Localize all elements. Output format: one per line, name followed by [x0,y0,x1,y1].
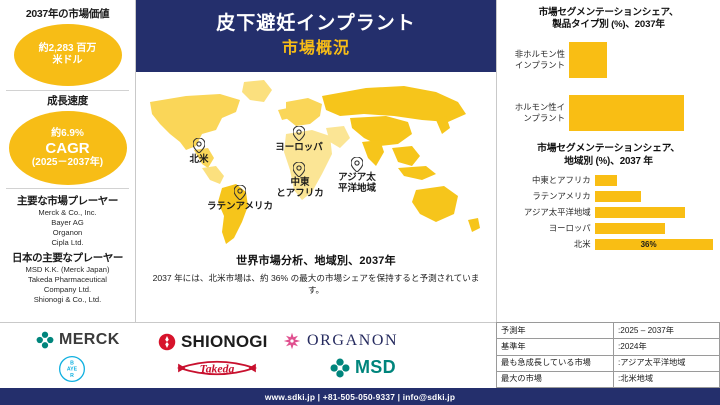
growth-rate-metric: CAGR [45,140,89,157]
table-cell-key: 予測年 [497,323,614,339]
msd-clover-icon [330,358,350,378]
product-type-bar-label-line2: インプラント [503,60,565,71]
region-bar-track [595,207,714,218]
japan-player-item: Takeda Pharmaceutical [0,275,135,285]
product-type-bar-label: ホルモン性イ ンプラント [503,102,565,124]
market-value-line1: 約2,283 百万 [39,43,97,55]
region-bar-track [595,191,714,202]
region-bar-row: 中東とアフリカ [503,175,714,186]
bayer-cross-icon: B AYE R [59,356,85,382]
map-label-mea-line1: 中東 [276,177,324,188]
svg-text:R: R [70,373,74,379]
map-caption-heading: 世界市場分析、地域別、2037年 [136,252,496,268]
organon-mark-icon [283,332,301,350]
footer-bar: www.sdki.jp | +81-505-050-9337 | info@sd… [0,388,720,405]
map-label-latin-america: ラテンアメリカ [207,201,273,212]
key-player-item: Organon [0,228,135,238]
table-cell-value: :北米地域 [614,371,720,387]
table-row: 最大の市場 :北米地域 [497,371,720,387]
product-type-bar-label-line2: ンプラント [503,113,565,124]
region-bar-row: アジア太平洋地域 [503,207,714,218]
region-bar-row: ラテンアメリカ [503,191,714,202]
table-cell-key: 基準年 [497,339,614,355]
region-bar-label: ヨーロッパ [503,223,591,234]
market-value-oval: 約2,283 百万 米ドル [14,24,122,86]
product-type-bar-nonhormonal [569,42,607,78]
world-map: 北米 ヨーロッパ アジア太 平洋地域 中東 とアフリカ ラテンアメリカ [136,72,496,252]
region-bar-value-north-america: 36% [641,240,657,249]
product-type-bar-label-line1: 非ホルモン性 [503,49,565,60]
region-bar-middle-east-africa [595,175,617,186]
table-cell-value: :2025 – 2037年 [614,323,720,339]
logo-merck: MERCK [36,331,120,349]
growth-rate-period: (2025－2037年) [32,157,103,169]
japan-players-heading: 日本の主要なプレーヤー [0,250,135,265]
map-label-mea-line2: とアフリカ [276,188,324,199]
table-cell-key: 最も急成長している市場 [497,355,614,371]
growth-rate-oval: 約6.9% CAGR (2025－2037年) [9,111,127,185]
region-bar-track [595,223,714,234]
map-pin-middle-east-africa [293,162,305,177]
map-pin-europe [293,126,305,141]
map-label-europe: ヨーロッパ [275,142,323,153]
sidebar: 2037年の市場価値 約2,283 百万 米ドル 成長速度 約6.9% CAGR… [0,0,136,322]
region-bar-track [595,175,714,186]
page-title: 皮下避妊インプラント [216,12,415,36]
region-chart-title-line1: 市場セグメンテーションシェア、 [503,142,714,155]
growth-rate-block: 成長速度 約6.9% CAGR (2025－2037年) [0,91,135,185]
region-bar-label: 北米 [503,239,591,250]
logo-organon: ORGANON [283,332,398,350]
infographic-page: 2037年の市場価値 約2,283 百万 米ドル 成長速度 約6.9% CAGR… [0,0,720,405]
product-type-bar-hormonal [569,95,684,131]
footer-contact-text: www.sdki.jp | +81-505-050-9337 | info@sd… [265,392,455,402]
table-row: 最も急成長している市場 :アジア太平洋地域 [497,355,720,371]
japan-player-item: MSD K.K. (Merck Japan) [0,265,135,275]
logo-shionogi: SHIONOGI [158,332,268,352]
table-cell-value: :アジア太平洋地域 [614,355,720,371]
logo-bayer: B AYE R [59,356,85,382]
product-type-chart: 市場セグメンテーションシェア、 製品タイプ別 (%)、2037年 非ホルモン性 … [497,0,720,131]
product-type-bar-row: 非ホルモン性 インプラント [503,42,714,78]
japan-players-block: 日本の主要なプレーヤー MSD K.K. (Merck Japan) Taked… [0,250,135,305]
product-type-chart-title-line1: 市場セグメンテーションシェア、 [503,7,714,19]
svg-text:Takeda: Takeda [200,362,235,375]
map-pin-asia-pacific [351,157,363,172]
japan-player-item: Company Ltd. [0,285,135,295]
region-chart-title-line2: 地域別 (%)、2037 年 [503,155,714,168]
region-bar-label: アジア太平洋地域 [503,207,591,218]
table-row: 基準年 :2024年 [497,339,720,355]
region-chart: 市場セグメンテーションシェア、 地域別 (%)、2037 年 中東とアフリカ ラ… [497,131,720,250]
key-player-item: Merck & Co., Inc. [0,208,135,218]
growth-rate-value: 約6.9% [51,128,84,140]
map-label-middle-east-africa: 中東 とアフリカ [276,177,324,199]
market-value-line2: 米ドル [53,55,83,67]
header-banner: 皮下避妊インプラント 市場概況 [136,0,496,72]
market-value-block: 2037年の市場価値 約2,283 百万 米ドル [0,0,135,86]
product-type-chart-title-line2: 製品タイプ別 (%)、2037年 [503,19,714,31]
region-bar-label: ラテンアメリカ [503,191,591,202]
svg-text:B: B [70,360,74,366]
key-player-item: Cipla Ltd. [0,238,135,248]
map-caption: 世界市場分析、地域別、2037年 2037 年には、北米市場は、約 36% の最… [136,252,496,296]
logo-merck-label: MERCK [59,331,120,349]
key-player-item: Bayer AG [0,218,135,228]
japan-player-item: Shionogi & Co., Ltd. [0,295,135,305]
company-logos: MERCK B AYE R SHIONOGI Ta [0,322,496,388]
svg-text:AYE: AYE [67,366,78,372]
region-bar-row: 北米 36% [503,239,714,250]
map-pin-north-america [193,138,205,153]
map-label-asia-pacific: アジア太 平洋地域 [338,172,376,194]
growth-rate-heading: 成長速度 [0,93,135,108]
table-cell-value: :2024年 [614,339,720,355]
region-bar-label: 中東とアフリカ [503,175,591,186]
summary-table: 予測年 :2025 – 2037年 基準年 :2024年 最も急成長している市場… [496,322,720,388]
map-label-asia-pacific-line2: 平洋地域 [338,183,376,194]
product-type-bar-track [569,42,713,78]
charts-panel: 市場セグメンテーションシェア、 製品タイプ別 (%)、2037年 非ホルモン性 … [496,0,720,322]
logo-organon-label: ORGANON [307,332,398,350]
takeda-ribbon-icon: Takeda [176,357,258,379]
product-type-bar-row: ホルモン性イ ンプラント [503,95,714,131]
shionogi-mark-icon [158,333,176,351]
key-players-block: 主要な市場プレーヤー Merck & Co., Inc. Bayer AG Or… [0,189,135,248]
product-type-bar-track [569,95,713,131]
map-caption-text: 2037 年には、北米市場は、約 36% の最大の市場シェアを保持すると予測され… [136,272,496,296]
market-value-heading: 2037年の市場価値 [0,6,135,21]
product-type-bar-label-line1: ホルモン性イ [503,102,565,113]
product-type-bar-label: 非ホルモン性 インプラント [503,49,565,71]
map-label-north-america: 北米 [189,154,208,165]
map-label-asia-pacific-line1: アジア太 [338,172,376,183]
page-subtitle: 市場概況 [282,38,350,60]
logo-takeda: Takeda [176,357,258,379]
region-bars: 中東とアフリカ ラテンアメリカ アジア太平洋地域 [503,175,714,250]
region-bar-row: ヨーロッパ [503,223,714,234]
logo-msd-label: MSD [355,357,396,378]
region-bar-asia-pacific [595,207,685,218]
merck-clover-icon [36,331,54,349]
key-players-heading: 主要な市場プレーヤー [0,193,135,208]
table-row: 予測年 :2025 – 2037年 [497,323,720,339]
logo-msd: MSD [330,357,396,378]
table-cell-key: 最大の市場 [497,371,614,387]
region-bar-track: 36% [595,239,714,250]
region-bar-latin-america [595,191,641,202]
region-bar-europe [595,223,665,234]
logo-shionogi-label: SHIONOGI [181,332,268,352]
map-pin-latin-america [234,185,246,200]
